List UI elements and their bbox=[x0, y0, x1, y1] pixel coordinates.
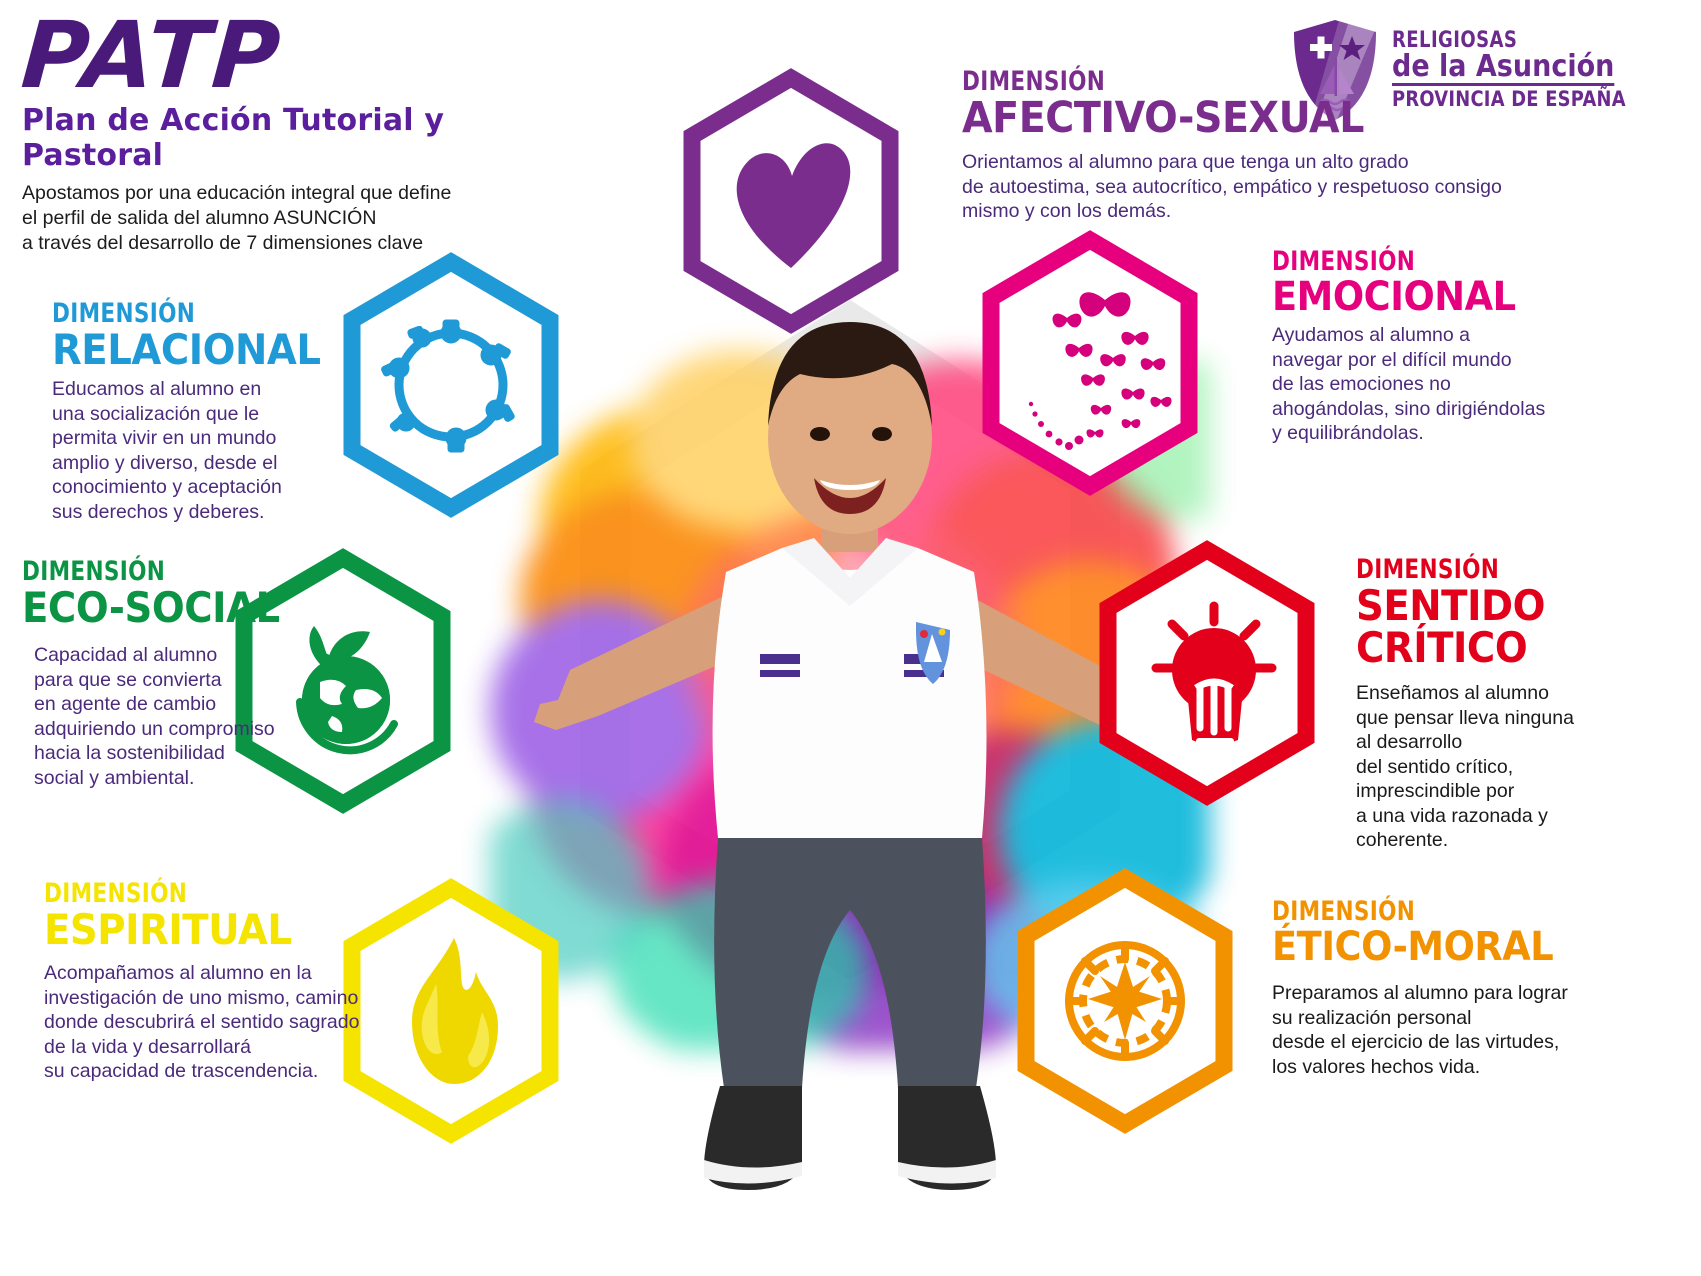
dimension-name-line-1: SENTIDO bbox=[1356, 585, 1669, 627]
body-line: que pensar lleva ninguna bbox=[1356, 706, 1696, 731]
body-line: los valores hechos vida. bbox=[1272, 1055, 1692, 1080]
body-line: amplio y diverso, desde el bbox=[52, 451, 352, 476]
dimension-emocional: DIMENSIÓN EMOCIONAL Ayudamos al alumno a… bbox=[1272, 248, 1692, 446]
dimension-body: Enseñamos al alumno que pensar lleva nin… bbox=[1356, 681, 1696, 853]
body-line: su capacidad de trascendencia. bbox=[44, 1059, 384, 1084]
body-line: imprescindible por bbox=[1356, 779, 1696, 804]
body-line: de autoestima, sea autocrítico, empático… bbox=[962, 175, 1442, 200]
dimension-etico-moral: DIMENSIÓN ÉTICO-MORAL Preparamos al alum… bbox=[1272, 898, 1692, 1079]
dimension-name: RELACIONAL bbox=[52, 329, 328, 371]
body-line: Orientamos al alumno para que tenga un a… bbox=[962, 150, 1442, 175]
body-line: coherente. bbox=[1356, 828, 1696, 853]
body-line: hacia la sostenibilidad bbox=[34, 741, 322, 766]
body-line: Enseñamos al alumno bbox=[1356, 681, 1696, 706]
compass-star-icon bbox=[1069, 945, 1181, 1057]
body-line: al desarrollo bbox=[1356, 730, 1696, 755]
dimension-name: EMOCIONAL bbox=[1272, 277, 1658, 317]
page-title: PATP bbox=[19, 12, 495, 99]
body-line: de la vida y desarrollará bbox=[44, 1035, 384, 1060]
dimension-relacional: DIMENSIÓN RELACIONAL Educamos al alumno … bbox=[52, 300, 352, 524]
intro-line: a través del desarrollo de 7 dimensiones… bbox=[22, 231, 492, 256]
dimension-name: ÉTICO-MORAL bbox=[1272, 927, 1658, 967]
dimension-body: Preparamos al alumno para lograr su real… bbox=[1272, 981, 1692, 1079]
dimension-kicker: DIMENSIÓN bbox=[1272, 248, 1608, 275]
intro-paragraph: Apostamos por una educación integral que… bbox=[22, 181, 492, 256]
body-line: social y ambiental. bbox=[34, 766, 322, 791]
dimension-kicker: DIMENSIÓN bbox=[52, 300, 292, 327]
body-line: del sentido crítico, bbox=[1356, 755, 1696, 780]
dimension-body: Capacidad al alumno para que se conviert… bbox=[34, 643, 322, 790]
body-line: desde el ejercicio de las virtudes, bbox=[1272, 1030, 1692, 1055]
body-line: navegar por el difícil mundo bbox=[1272, 348, 1692, 373]
hexagon-afectivo-sexual[interactable] bbox=[676, 70, 906, 332]
dimension-name: AFECTIVO-SEXUAL bbox=[962, 97, 1404, 140]
body-line: a una vida razonada y bbox=[1356, 804, 1696, 829]
body-line: Preparamos al alumno para lograr bbox=[1272, 981, 1692, 1006]
dimension-kicker: DIMENSIÓN bbox=[22, 558, 262, 585]
body-line: Capacidad al alumno bbox=[34, 643, 322, 668]
body-line: donde descubrirá el sentido sagrado bbox=[44, 1010, 384, 1035]
dimension-kicker: DIMENSIÓN bbox=[1272, 898, 1608, 925]
dimension-body: Ayudamos al alumno a navegar por el difí… bbox=[1272, 323, 1692, 446]
hexagon-relacional[interactable] bbox=[336, 254, 566, 516]
dimension-name: ECO-SOCIAL bbox=[22, 587, 298, 629]
dimension-espiritual: DIMENSIÓN ESPIRITUAL Acompañamos al alum… bbox=[44, 880, 384, 1084]
body-line: y equilibrándolas. bbox=[1272, 421, 1692, 446]
page-subtitle: Plan de Acción Tutorial y Pastoral bbox=[22, 103, 492, 173]
dimension-body: Acompañamos al alumno en la investigació… bbox=[44, 961, 384, 1084]
dimension-body: Orientamos al alumno para que tenga un a… bbox=[962, 150, 1442, 224]
dimension-name: ESPIRITUAL bbox=[44, 909, 357, 951]
dimension-kicker: DIMENSIÓN bbox=[962, 68, 1346, 95]
body-line: de las emociones no bbox=[1272, 372, 1692, 397]
dimension-name-line-2: CRÍTICO bbox=[1356, 627, 1669, 669]
hexagon-emocional[interactable] bbox=[975, 232, 1205, 494]
title-block: PATP Plan de Acción Tutorial y Pastoral … bbox=[22, 12, 492, 256]
dimension-eco-social: DIMENSIÓN ECO-SOCIAL Capacidad al alumno… bbox=[22, 558, 322, 790]
body-line: su realización personal bbox=[1272, 1006, 1692, 1031]
body-line: ahogándolas, sino dirigiéndolas bbox=[1272, 397, 1692, 422]
body-line: permita vivir en un mundo bbox=[52, 426, 352, 451]
body-line: adquiriendo un compromiso bbox=[34, 717, 322, 742]
intro-line: Apostamos por una educación integral que… bbox=[22, 181, 492, 206]
body-line: conocimiento y aceptación bbox=[52, 475, 352, 500]
body-line: Ayudamos al alumno a bbox=[1272, 323, 1692, 348]
dimension-sentido-critico: DIMENSIÓN SENTIDO CRÍTICO Enseñamos al a… bbox=[1356, 556, 1696, 853]
body-line: en agente de cambio bbox=[34, 692, 322, 717]
hexagon-sentido-critico[interactable] bbox=[1092, 542, 1322, 804]
hexagon-etico-moral[interactable] bbox=[1010, 870, 1240, 1132]
body-line: una socialización que le bbox=[52, 402, 352, 427]
dimension-kicker: DIMENSIÓN bbox=[1356, 556, 1628, 583]
dimension-kicker: DIMENSIÓN bbox=[44, 880, 316, 907]
body-line: Acompañamos al alumno en la bbox=[44, 961, 384, 986]
body-line: investigación de uno mismo, camino bbox=[44, 986, 384, 1011]
dimension-body: Educamos al alumno en una socialización … bbox=[52, 377, 352, 524]
body-line: para que se convierta bbox=[34, 668, 322, 693]
dimension-afectivo-sexual: DIMENSIÓN AFECTIVO-SEXUAL Orientamos al … bbox=[962, 68, 1442, 224]
body-line: mismo y con los demás. bbox=[962, 199, 1442, 224]
infographic-poster: PATP Plan de Acción Tutorial y Pastoral … bbox=[0, 0, 1701, 1276]
body-line: Educamos al alumno en bbox=[52, 377, 352, 402]
intro-line: el perfil de salida del alumno ASUNCIÓN bbox=[22, 206, 492, 231]
body-line: sus derechos y deberes. bbox=[52, 500, 352, 525]
